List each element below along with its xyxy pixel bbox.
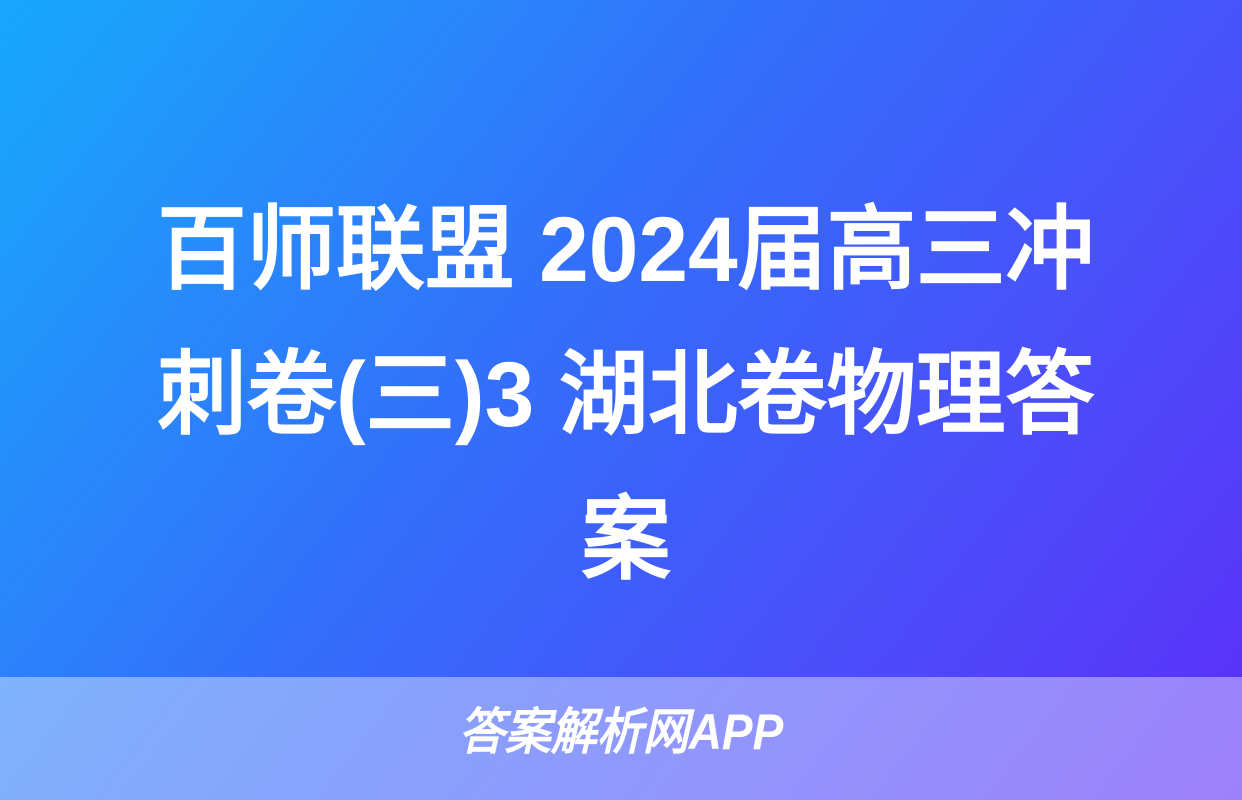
- title-line-2: 刺卷(三)3 湖北卷物理答: [96, 323, 1155, 468]
- poster-title: 百师联盟 2024届高三冲 刺卷(三)3 湖北卷物理答 案: [80, 178, 1172, 613]
- title-line-3: 案: [96, 468, 1155, 613]
- title-line-1: 百师联盟 2024届高三冲: [96, 178, 1155, 323]
- poster-card: 百师联盟 2024届高三冲 刺卷(三)3 湖北卷物理答 案 答案解析网APP: [0, 0, 1242, 800]
- watermark-brand: 答案解析网APP: [50, 704, 1193, 760]
